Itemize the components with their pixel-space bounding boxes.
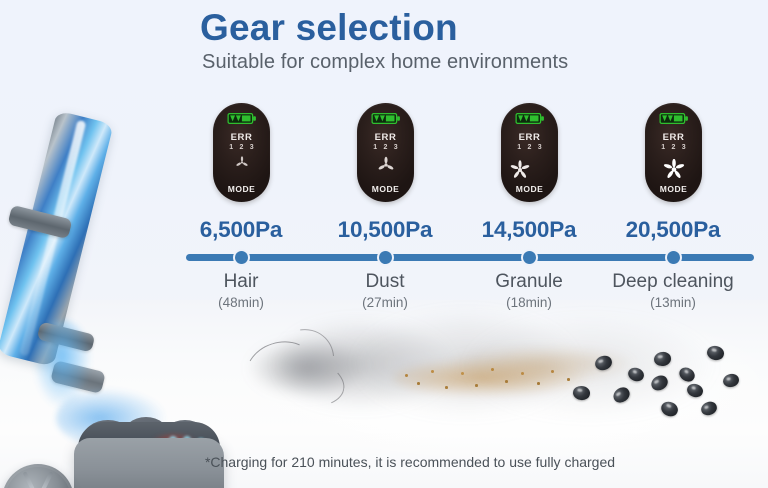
granule-dot <box>461 372 464 375</box>
granule-dot <box>475 384 478 387</box>
fan-large-icon <box>510 160 530 180</box>
floor-debris-field <box>255 312 768 452</box>
gear-runtime-deep-cleaning: (13min) <box>588 296 758 310</box>
err-codes: 1 2 3 <box>213 144 270 151</box>
granule-dot <box>445 386 448 389</box>
err-label: ERR <box>501 133 558 143</box>
battery-full-icon <box>371 113 400 124</box>
err-label: ERR <box>645 133 702 143</box>
suction-value-hair: 6,500Pa <box>166 219 316 242</box>
fan-small-icon <box>234 155 249 170</box>
granule-dot <box>405 374 408 377</box>
mode-label: MODE <box>501 185 558 194</box>
battery-full-icon <box>515 113 544 124</box>
gear-slider-dot-deep-cleaning[interactable] <box>665 249 682 266</box>
granule-dot <box>537 382 540 385</box>
mode-label: MODE <box>645 185 702 194</box>
gear-slider-dot-hair[interactable] <box>233 249 250 266</box>
err-codes: 1 2 3 <box>645 144 702 151</box>
gear-slider-dot-granule[interactable] <box>521 249 538 266</box>
gear-label-deep-cleaning: Deep cleaning <box>588 272 758 291</box>
bean-debris <box>699 400 718 418</box>
fan-max-icon <box>663 159 684 180</box>
wheel-spoke <box>36 471 53 488</box>
page-subtitle: Suitable for complex home environments <box>202 52 568 72</box>
bean-debris <box>722 372 740 388</box>
suction-value-deep-cleaning: 20,500Pa <box>598 219 748 242</box>
suction-value-granule: 14,500Pa <box>454 219 604 242</box>
granule-dot <box>551 370 554 373</box>
suction-value-dust: 10,500Pa <box>310 219 460 242</box>
err-label: ERR <box>213 133 270 143</box>
granule-dot <box>567 378 570 381</box>
granule-dot <box>491 368 494 371</box>
granule-dot <box>417 382 420 385</box>
charging-footnote-text: *Charging for 210 minutes, it is recomme… <box>205 454 615 470</box>
page-title: Gear selection <box>200 9 458 46</box>
mode-label: MODE <box>213 185 270 194</box>
display-panel-row: ERR 1 2 3 MODE ERR 1 2 3 <box>0 103 768 203</box>
infographic-stage: Gear selection Suitable for complex home… <box>0 0 768 488</box>
charging-footnote: *Charging for 210 minutes, it is recomme… <box>0 455 768 469</box>
battery-full-icon <box>227 113 256 124</box>
battery-full-icon <box>659 113 688 124</box>
granule-dot <box>521 372 524 375</box>
mode-label: MODE <box>357 185 414 194</box>
wheel-spoke <box>23 471 40 488</box>
fan-medium-icon <box>377 156 395 174</box>
gear-slider-dot-dust[interactable] <box>377 249 394 266</box>
err-codes: 1 2 3 <box>357 144 414 151</box>
err-codes: 1 2 3 <box>501 144 558 151</box>
granule-dot <box>505 380 508 383</box>
granule-dot <box>431 370 434 373</box>
display-panel-deep-cleaning[interactable]: ERR 1 2 3 MODE <box>645 103 702 202</box>
display-panel-hair[interactable]: ERR 1 2 3 MODE <box>213 103 270 202</box>
display-panel-dust[interactable]: ERR 1 2 3 MODE <box>357 103 414 202</box>
err-label: ERR <box>357 133 414 143</box>
display-panel-granule[interactable]: ERR 1 2 3 MODE <box>501 103 558 202</box>
